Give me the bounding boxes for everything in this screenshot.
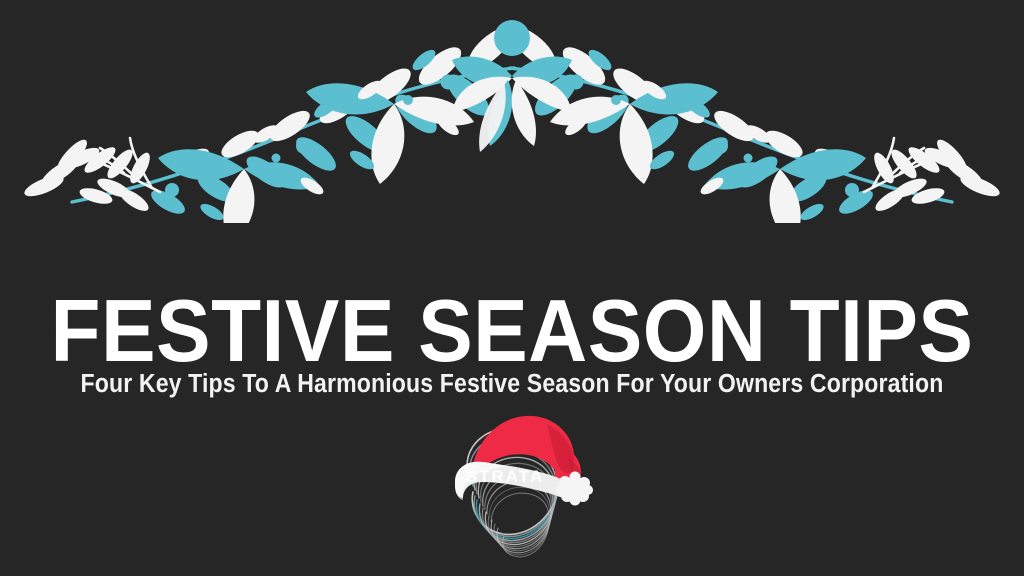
center-berry-icon: [494, 20, 530, 56]
wreath-left-arm: [22, 21, 518, 223]
floral-wreath-icon: [0, 18, 1024, 223]
logo-wordmark: STRATA: [441, 468, 569, 485]
wreath-right-arm: [506, 21, 1002, 223]
strata-logo: STRATA: [441, 406, 601, 568]
strata-logo-icon: [441, 406, 601, 568]
wreath-center-crown: [452, 20, 572, 152]
page-title: FESTIVE SEASON TIPS: [36, 287, 988, 375]
santa-hat-icon: [455, 416, 593, 506]
festive-season-tips-slide: FESTIVE SEASON TIPS Four Key Tips To A H…: [0, 0, 1024, 576]
page-subtitle: Four Key Tips To A Harmonious Festive Se…: [49, 369, 976, 399]
floral-wreath-decoration: [0, 18, 1024, 223]
